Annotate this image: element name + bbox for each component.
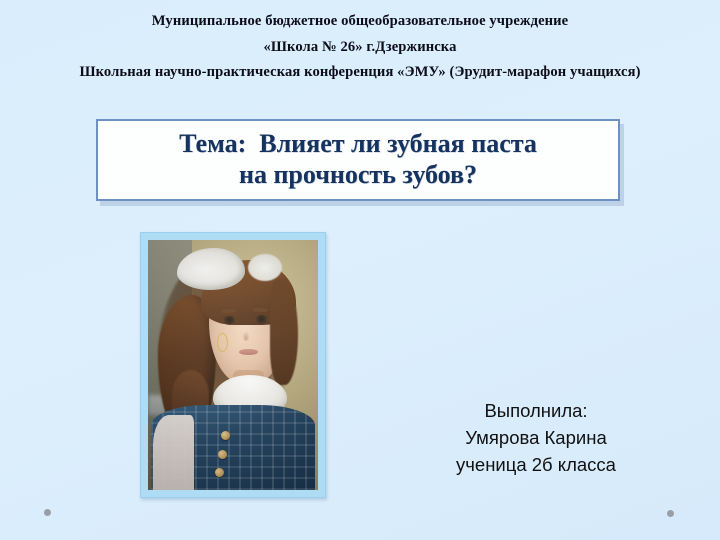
photo-mouth: [239, 349, 258, 356]
decorative-dot-left-icon: [44, 509, 51, 516]
photo-button-bottom: [215, 468, 224, 477]
photo-eye-left: [223, 316, 236, 325]
portrait-photo-frame: [140, 232, 326, 498]
author-name: Умярова Карина: [386, 425, 686, 452]
photo-earring: [217, 333, 228, 353]
slide-header: Муниципальное бюджетное общеобразователь…: [0, 8, 720, 80]
decorative-dot-right-icon: [667, 510, 674, 517]
photo-button-middle: [218, 450, 227, 459]
header-line-conference: Школьная научно-практическая конференция…: [0, 54, 720, 80]
slide-title-line-1: Тема: Влияет ли зубная паста: [98, 129, 618, 160]
photo-blouse-sleeve: [153, 415, 194, 490]
title-box: Тема: Влияет ли зубная паста на прочност…: [96, 119, 620, 201]
author-class: ученица 2б класса: [386, 452, 686, 479]
header-line-institution: Муниципальное бюджетное общеобразователь…: [0, 8, 720, 29]
photo-eye-right: [255, 315, 268, 324]
photo-hair-side: [270, 280, 297, 385]
author-block: Выполнила: Умярова Карина ученица 2б кла…: [386, 398, 686, 478]
header-line-school: «Школа № 26» г.Дзержинска: [0, 29, 720, 55]
slide-title-line-2: на прочность зубов?: [98, 160, 618, 191]
author-label: Выполнила:: [386, 398, 686, 425]
slide-title: Тема: Влияет ли зубная паста на прочност…: [98, 129, 618, 190]
presentation-slide: Муниципальное бюджетное общеобразователь…: [0, 0, 720, 540]
portrait-photo: [148, 240, 318, 490]
